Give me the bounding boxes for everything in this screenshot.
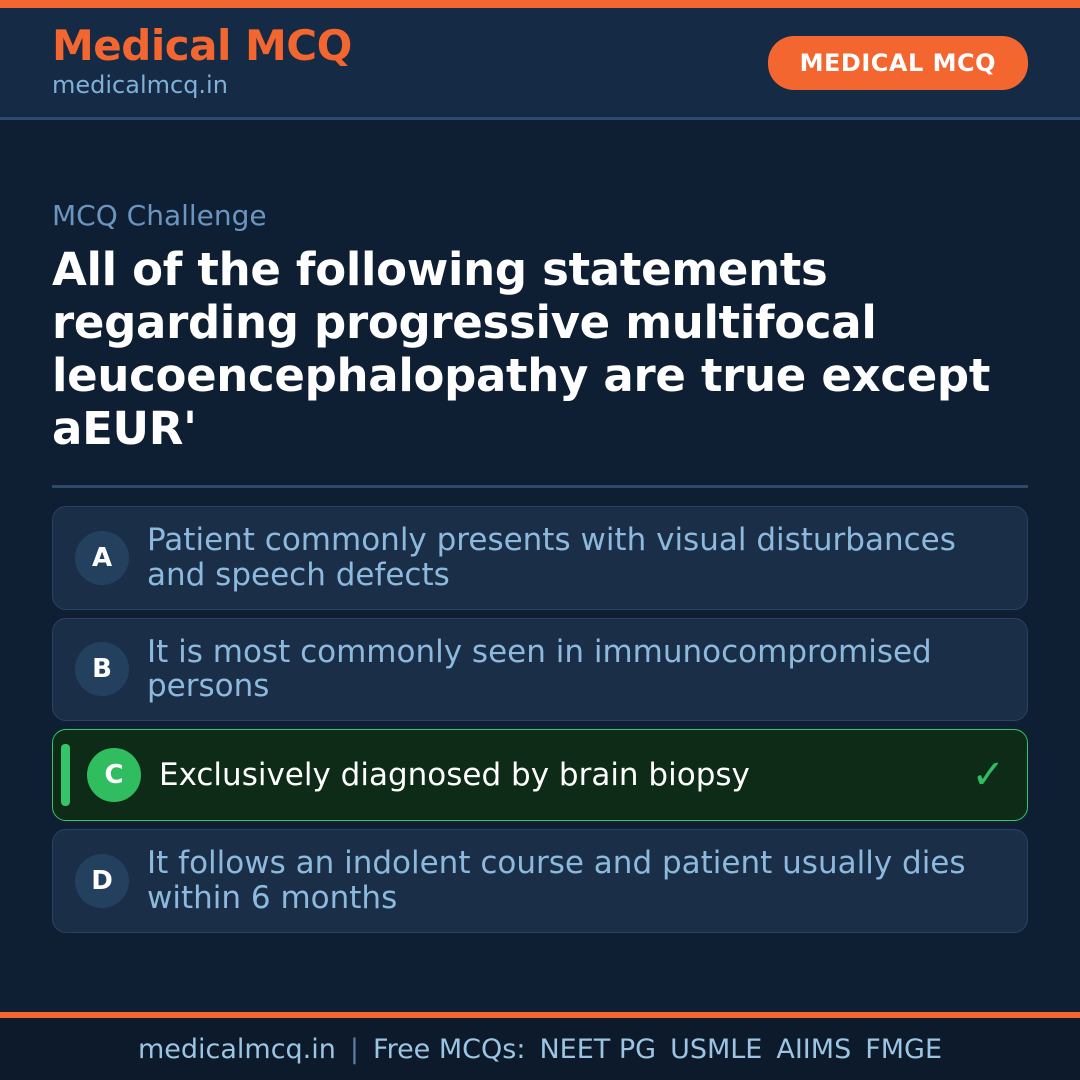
option-c[interactable]: C Exclusively diagnosed by brain biopsy … — [52, 729, 1028, 821]
option-d[interactable]: D It follows an indolent course and pati… — [52, 829, 1028, 932]
eyebrow-label: MCQ Challenge — [52, 199, 1028, 233]
footer-exam: AIIMS — [776, 1034, 851, 1065]
option-a[interactable]: A Patient commonly presents with visual … — [52, 506, 1028, 609]
option-text: Exclusively diagnosed by brain biopsy — [159, 758, 953, 793]
brand-block: Medical MCQ medicalmcq.in — [52, 24, 352, 101]
footer-separator: | — [350, 1034, 359, 1065]
footer-exam: NEET PG — [539, 1034, 656, 1065]
option-letter: A — [75, 531, 129, 585]
header: Medical MCQ medicalmcq.in MEDICAL MCQ — [0, 8, 1080, 120]
footer-tagline: Free MCQs: — [373, 1034, 525, 1065]
top-accent-bar — [0, 0, 1080, 8]
option-b[interactable]: B It is most commonly seen in immunocomp… — [52, 618, 1028, 721]
mcq-card: Medical MCQ medicalmcq.in MEDICAL MCQ MC… — [0, 0, 1080, 1080]
brand-title: Medical MCQ — [52, 24, 352, 68]
option-letter: D — [75, 854, 129, 908]
option-text: Patient commonly presents with visual di… — [147, 523, 1005, 592]
option-letter: C — [87, 748, 141, 802]
footer-exam: FMGE — [865, 1034, 942, 1065]
option-letter: B — [75, 642, 129, 696]
footer-exam: USMLE — [670, 1034, 762, 1065]
footer: medicalmcq.in | Free MCQs: NEET PG USMLE… — [0, 1018, 1080, 1080]
option-text: It is most commonly seen in immunocompro… — [147, 635, 1005, 704]
question-text: All of the following statements regardin… — [52, 243, 1028, 455]
brand-badge: MEDICAL MCQ — [768, 36, 1028, 90]
check-icon: ✓ — [971, 755, 1005, 795]
footer-exam-list: NEET PG USMLE AIIMS FMGE — [539, 1034, 942, 1065]
main-content: MCQ Challenge All of the following state… — [0, 120, 1080, 1012]
footer-site: medicalmcq.in — [138, 1034, 336, 1065]
brand-subtitle: medicalmcq.in — [52, 70, 352, 101]
option-text: It follows an indolent course and patien… — [147, 846, 1005, 915]
section-divider — [52, 485, 1028, 488]
options-list: A Patient commonly presents with visual … — [52, 506, 1028, 932]
